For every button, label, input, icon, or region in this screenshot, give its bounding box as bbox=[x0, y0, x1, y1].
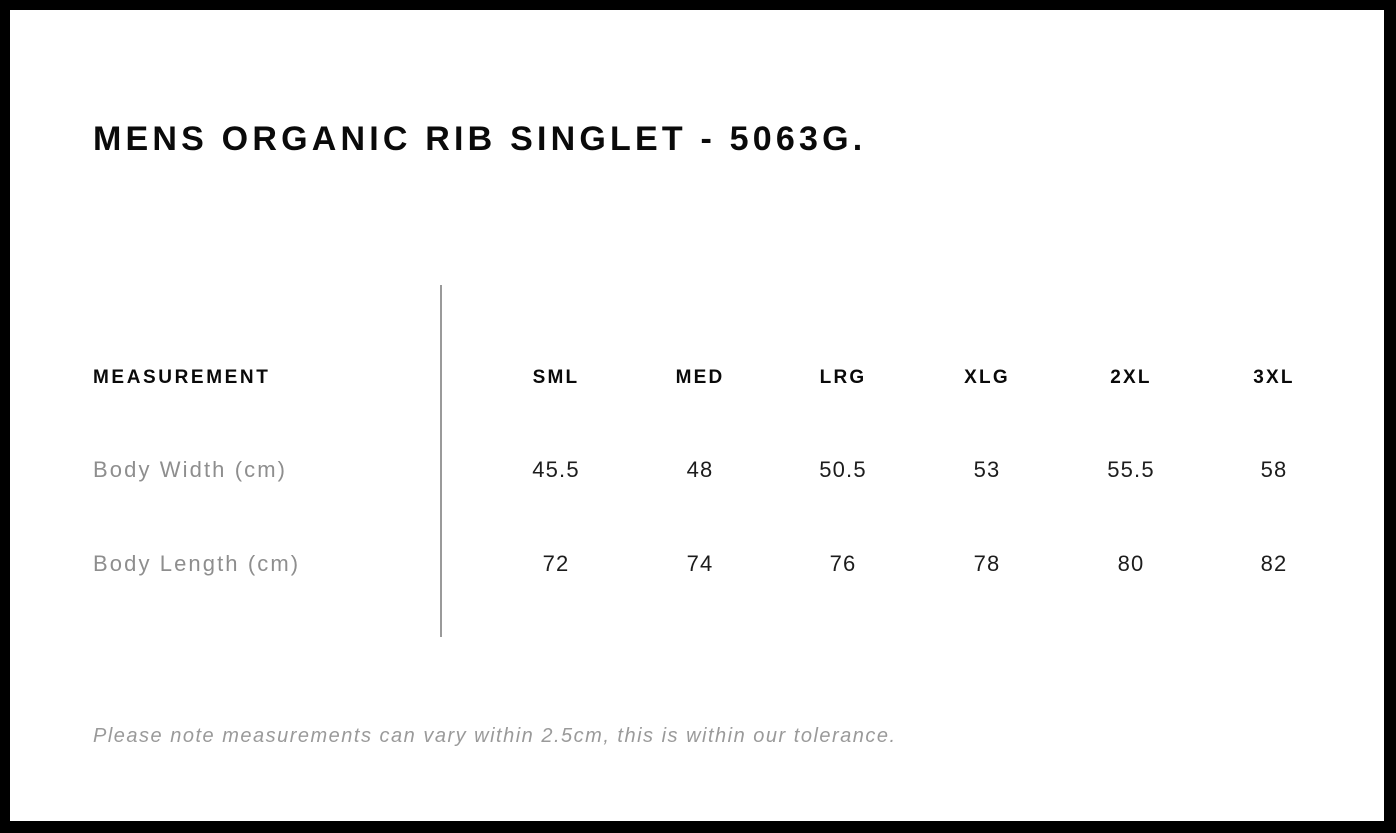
size-chart-card: MENS ORGANIC RIB SINGLET - 5063G. MEASUR… bbox=[10, 10, 1384, 821]
cell-body-width-xlg: 53 bbox=[922, 450, 1052, 490]
cell-body-length-3xl: 82 bbox=[1209, 544, 1339, 584]
cell-body-width-lrg: 50.5 bbox=[778, 450, 908, 490]
cell-body-length-xlg: 78 bbox=[922, 544, 1052, 584]
row-label-body-width: Body Width (cm) bbox=[93, 450, 287, 490]
table-header-row: MEASUREMENT SML MED LRG XLG 2XL 3XL bbox=[10, 358, 1384, 398]
table-row: Body Length (cm) 72 74 76 78 80 82 bbox=[10, 544, 1384, 584]
column-header-size-lrg: LRG bbox=[778, 358, 908, 398]
cell-body-length-med: 74 bbox=[635, 544, 765, 584]
cell-body-width-2xl: 55.5 bbox=[1066, 450, 1196, 490]
column-header-size-sml: SML bbox=[491, 358, 621, 398]
cell-body-length-2xl: 80 bbox=[1066, 544, 1196, 584]
cell-body-length-sml: 72 bbox=[491, 544, 621, 584]
table-row: Body Width (cm) 45.5 48 50.5 53 55.5 58 bbox=[10, 450, 1384, 490]
size-chart-screen: MENS ORGANIC RIB SINGLET - 5063G. MEASUR… bbox=[0, 0, 1396, 833]
cell-body-length-lrg: 76 bbox=[778, 544, 908, 584]
column-header-size-med: MED bbox=[635, 358, 765, 398]
cell-body-width-sml: 45.5 bbox=[491, 450, 621, 490]
column-header-measurement: MEASUREMENT bbox=[93, 358, 270, 398]
column-header-size-xlg: XLG bbox=[922, 358, 1052, 398]
row-label-body-length: Body Length (cm) bbox=[93, 544, 300, 584]
column-header-size-2xl: 2XL bbox=[1066, 358, 1196, 398]
cell-body-width-med: 48 bbox=[635, 450, 765, 490]
measurement-table: MEASUREMENT SML MED LRG XLG 2XL 3XL Body… bbox=[10, 10, 1384, 821]
column-header-size-3xl: 3XL bbox=[1209, 358, 1339, 398]
cell-body-width-3xl: 58 bbox=[1209, 450, 1339, 490]
tolerance-note: Please note measurements can vary within… bbox=[93, 719, 897, 753]
